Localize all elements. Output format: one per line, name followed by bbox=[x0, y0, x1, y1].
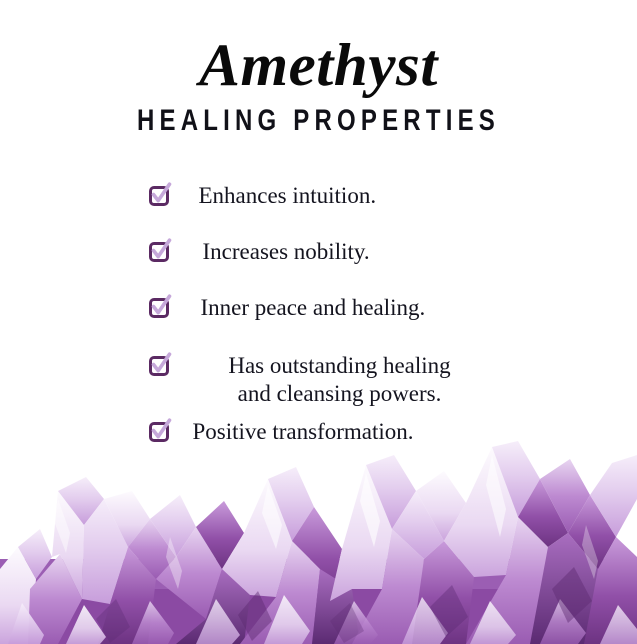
amethyst-crystal-cluster-image bbox=[0, 429, 637, 644]
page-subtitle: HEALING PROPERTIES bbox=[64, 104, 574, 138]
list-item-label: Has outstanding healing and cleansing po… bbox=[169, 352, 489, 408]
list-item: Has outstanding healing and cleansing po… bbox=[0, 352, 637, 408]
list-item: Inner peace and healing. bbox=[0, 294, 637, 322]
poster-header: Amethyst HEALING PROPERTIES bbox=[0, 0, 637, 138]
list-item-label: Inner peace and healing. bbox=[169, 294, 489, 322]
list-item-label: Enhances intuition. bbox=[169, 182, 489, 210]
list-item: Enhances intuition. bbox=[0, 182, 637, 210]
list-item: Increases nobility. bbox=[0, 238, 637, 266]
checkbox-checked-icon bbox=[149, 356, 169, 376]
checkbox-checked-icon bbox=[149, 242, 169, 262]
page-title: Amethyst bbox=[0, 34, 637, 96]
amethyst-healing-properties-poster: Amethyst HEALING PROPERTIES Enhances int… bbox=[0, 0, 637, 644]
checkbox-checked-icon bbox=[149, 186, 169, 206]
list-item-label: Increases nobility. bbox=[169, 238, 489, 266]
checkbox-checked-icon bbox=[149, 298, 169, 318]
